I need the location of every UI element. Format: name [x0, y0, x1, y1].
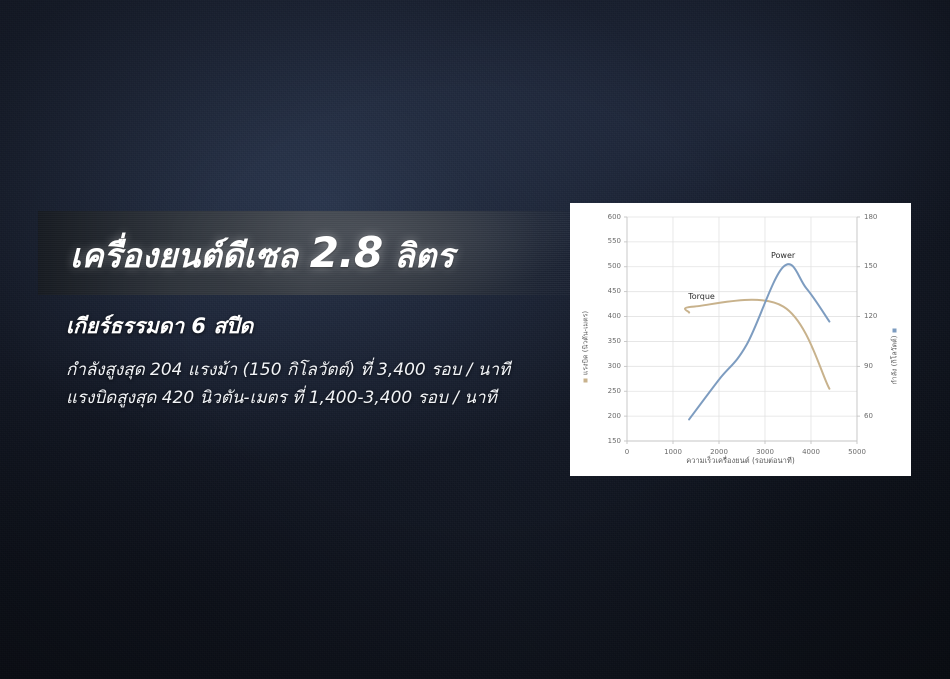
y-axis-left-tick: 500: [595, 262, 621, 270]
y-axis-left-tick: 400: [595, 312, 621, 320]
spec-block: เกียร์ธรรมดา 6 สปีด กำลังสูงสุด 204 แรงม…: [66, 310, 586, 412]
engine-performance-chart-panel: แรงบิด (นิวตัน-เมตร) กำลัง (กิโลวัตต์) ค…: [570, 203, 911, 476]
transmission-heading: เกียร์ธรรมดา 6 สปีด: [66, 310, 586, 343]
x-axis-tick: 5000: [840, 448, 874, 456]
chart-axis-lines: [624, 217, 860, 444]
chart-plot-svg: [570, 203, 911, 476]
chart-inner: แรงบิด (นิวตัน-เมตร) กำลัง (กิโลวัตต์) ค…: [570, 203, 911, 476]
curve-label-torque: Torque: [688, 292, 715, 301]
y-axis-right-tick: 150: [864, 262, 890, 270]
y-axis-left-tick: 300: [595, 362, 621, 370]
page-title-unit: ลิตร: [394, 236, 454, 275]
y-axis-right-tick: 180: [864, 213, 890, 221]
y-axis-left-tick: 250: [595, 387, 621, 395]
x-axis-tick: 3000: [748, 448, 782, 456]
y-axis-left-tick: 450: [595, 287, 621, 295]
y-axis-left-tick: 600: [595, 213, 621, 221]
chart-gridlines: [627, 217, 857, 441]
y-axis-left-tick: 200: [595, 412, 621, 420]
y-axis-left-tick: 350: [595, 337, 621, 345]
page-title-main: เครื่องยนต์ดีเซล: [70, 236, 298, 275]
y-axis-left-tick: 150: [595, 437, 621, 445]
spec-line-torque: แรงบิดสูงสุด 420 นิวตัน-เมตร ที่ 1,400-3…: [66, 385, 586, 413]
spec-line-power: กำลังสูงสุด 204 แรงม้า (150 กิโลวัตต์) ท…: [66, 357, 586, 385]
x-axis-tick: 1000: [656, 448, 690, 456]
page-title: เครื่องยนต์ดีเซล 2.8 ลิตร: [70, 228, 454, 282]
y-axis-right-tick: 90: [864, 362, 890, 370]
y-axis-left-tick: 550: [595, 237, 621, 245]
y-axis-right-tick: 120: [864, 312, 890, 320]
x-axis-tick: 0: [610, 448, 644, 456]
x-axis-tick: 2000: [702, 448, 736, 456]
curve-label-power: Power: [771, 251, 795, 260]
page-title-displacement: 2.8: [310, 228, 383, 277]
x-axis-tick: 4000: [794, 448, 828, 456]
y-axis-right-tick: 60: [864, 412, 890, 420]
title-banner: เครื่องยนต์ดีเซล 2.8 ลิตร: [38, 211, 583, 295]
series-line-torque: [685, 300, 829, 389]
